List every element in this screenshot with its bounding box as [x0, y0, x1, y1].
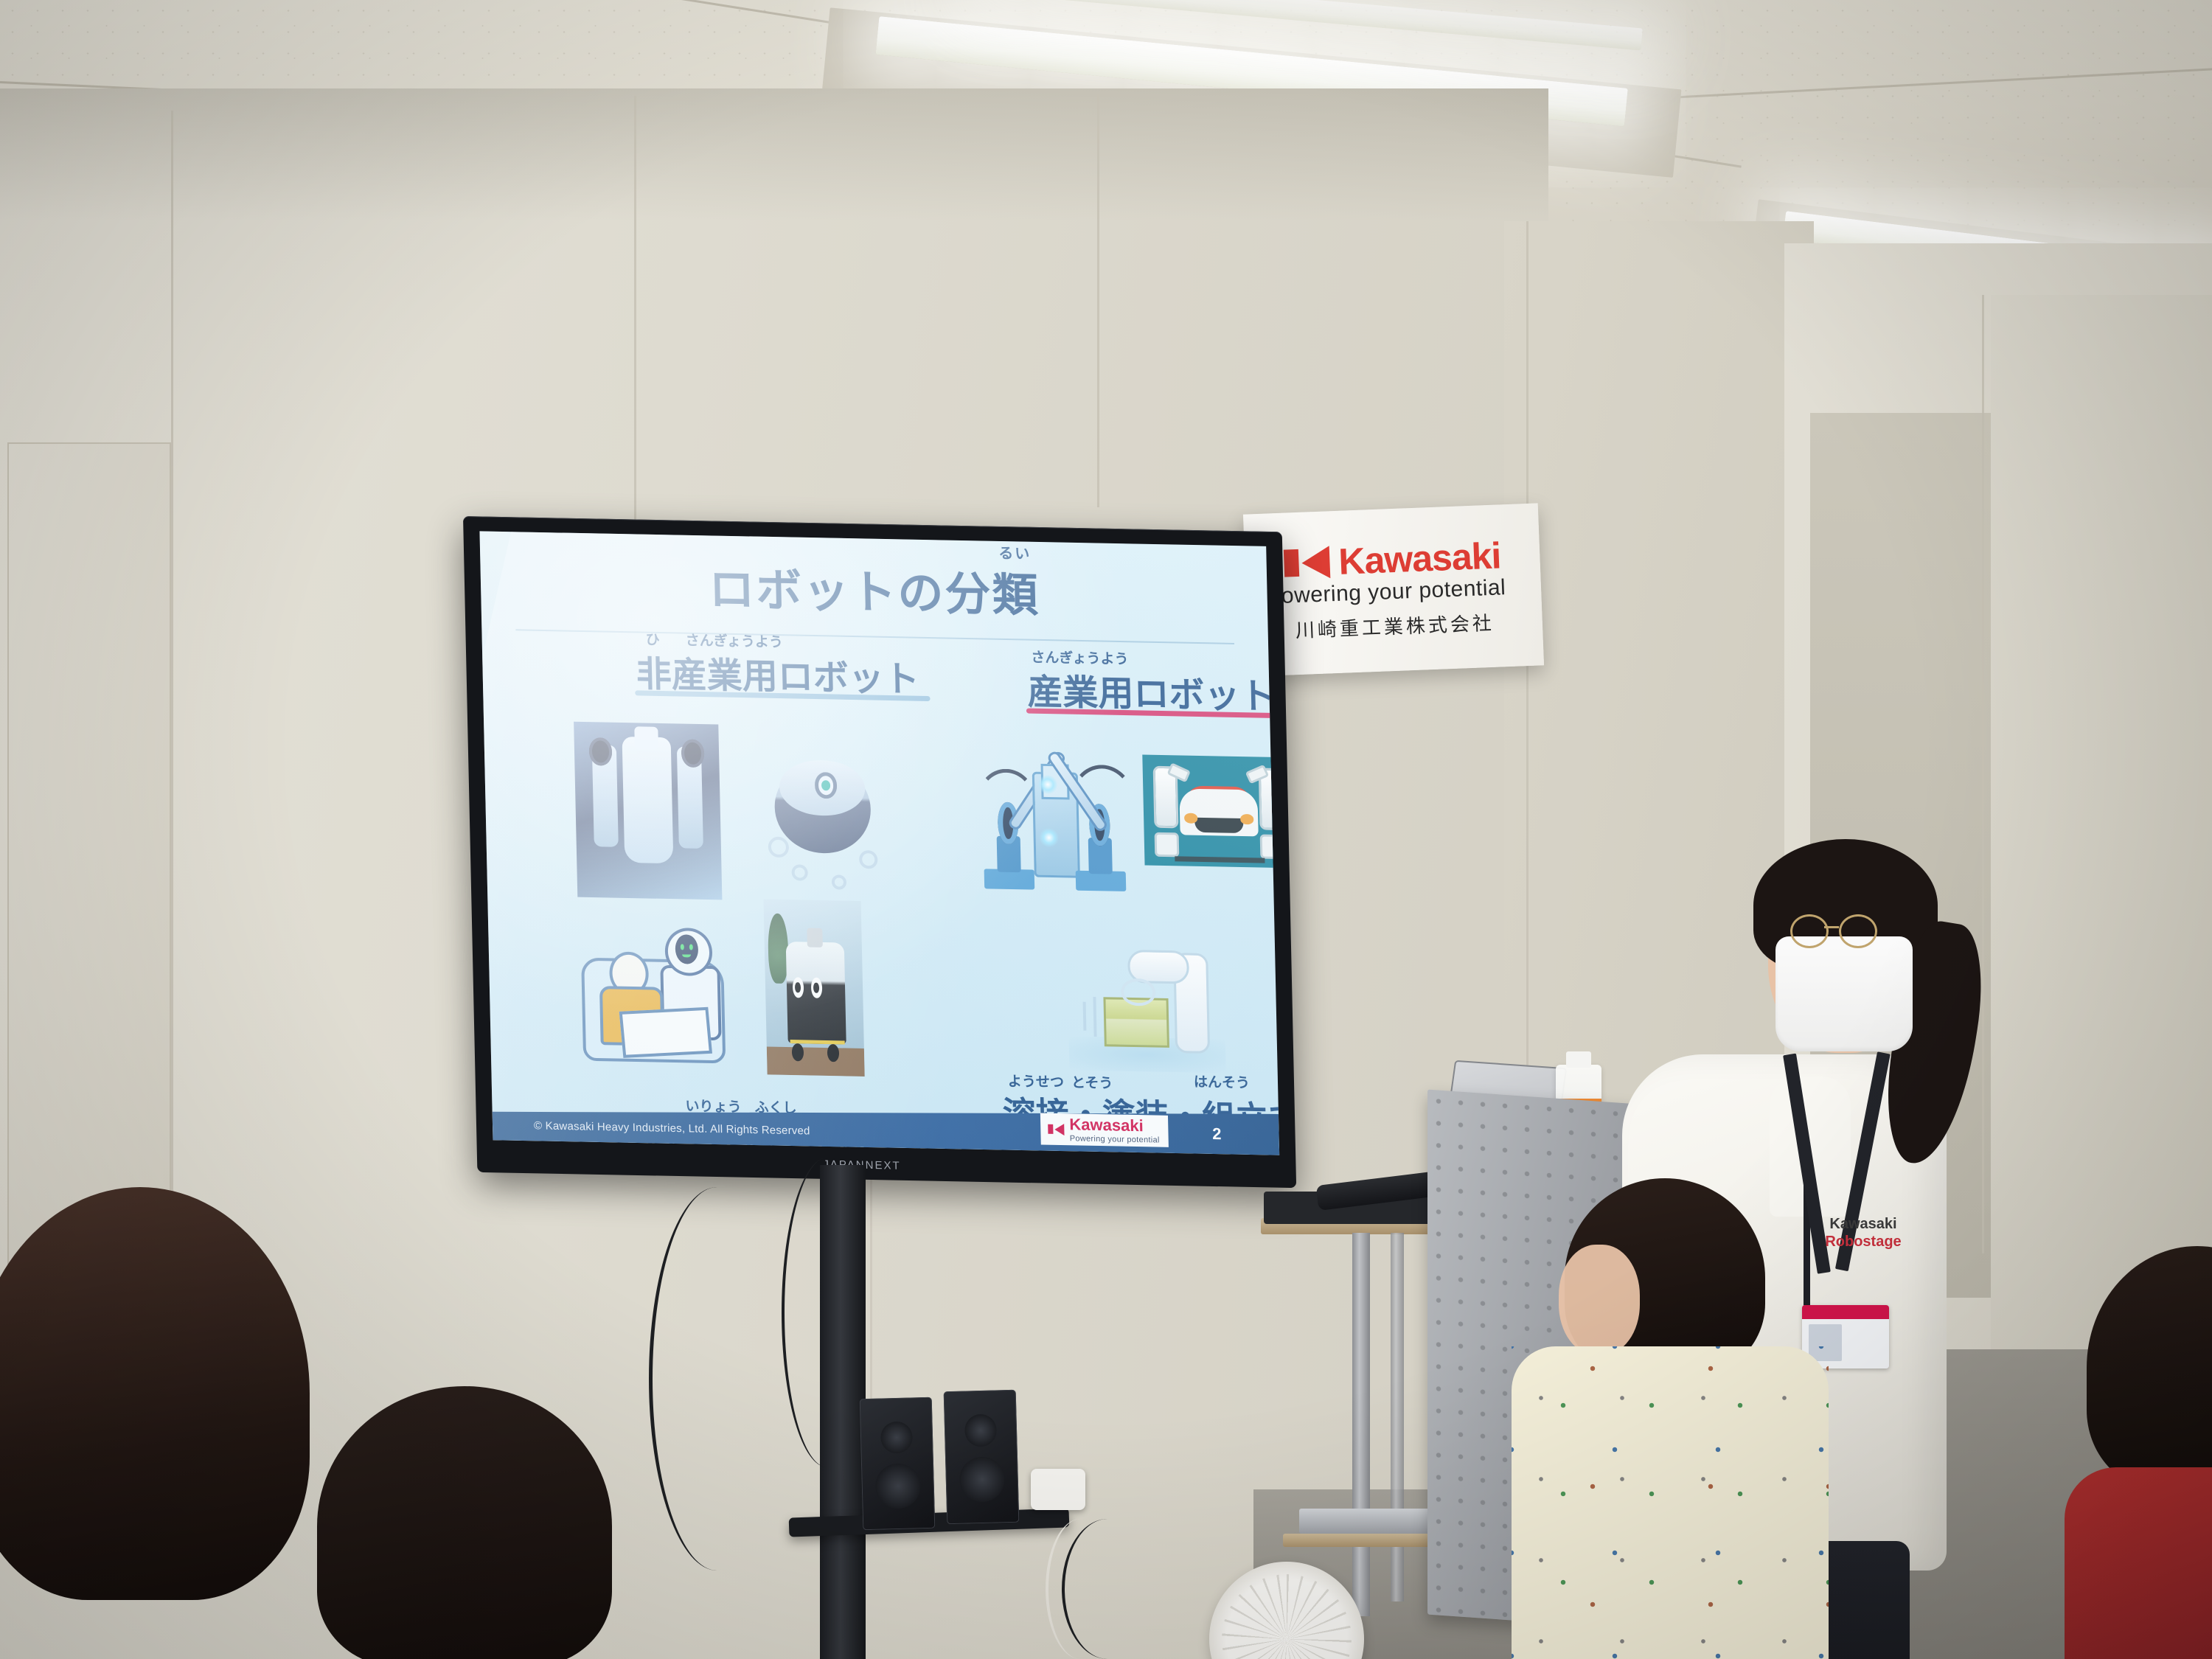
audience-member-left-2: [317, 1386, 627, 1659]
audience-member-right: [2087, 1246, 2212, 1659]
tv-screen: ロボットの分るい類 ひ さんぎょうよう 非産業用ロボット さんぎょうよう 産業用…: [479, 531, 1279, 1155]
child-sweater: [1512, 1346, 1829, 1659]
face-mask: [1775, 936, 1913, 1051]
audience-hair: [0, 1187, 310, 1600]
audience-hair: [2087, 1246, 2212, 1489]
delivery-robot-photo: [763, 899, 864, 1076]
care-robot-illustration: [574, 911, 751, 1070]
material-handling-robot-illustration: [1057, 940, 1237, 1077]
presentation-room-photo: Kawasaki owering your potential 川崎重工業株式会…: [0, 0, 2212, 1659]
slide-title-divider: [515, 629, 1234, 644]
speaker-right: [944, 1390, 1020, 1525]
audience-hair: [317, 1386, 612, 1659]
cable: [649, 1187, 785, 1571]
slide-title-furigana: るい: [998, 541, 1032, 563]
right-caption-furigana-3: はんそう: [1194, 1071, 1251, 1092]
car-painting-robots-illustration: [1142, 754, 1279, 868]
wall-panel-seam: [634, 96, 636, 553]
cart-leg: [1352, 1233, 1370, 1616]
kawasaki-wall-sign: Kawasaki owering your potential 川崎重工業株式会…: [1243, 503, 1544, 676]
slide-page-number: 2: [1212, 1124, 1222, 1144]
slide-footer-logo: Kawasaki Powering your potential: [1040, 1113, 1169, 1147]
slide-title-row: ロボットの分るい類: [480, 547, 1268, 628]
humanoid-robot-photo: [574, 722, 722, 900]
slide-footer-brand: Kawasaki: [1069, 1115, 1144, 1135]
slide-content: ロボットの分るい類 ひ さんぎょうよう 非産業用ロボット さんぎょうよう 産業用…: [479, 531, 1279, 1155]
wall-panel-seam: [1097, 94, 1099, 507]
audience-red-top: [2065, 1467, 2212, 1659]
slide-footer-tagline: Powering your potential: [1070, 1135, 1160, 1144]
audience-child-center: [1519, 1178, 1843, 1659]
robot-vacuum-illustration: [759, 734, 888, 891]
eyeglasses: [1790, 914, 1923, 948]
sign-company-name-jp: 川崎重工業株式会社: [1295, 608, 1495, 642]
wall-top-shadow: [0, 88, 1548, 221]
fan-grill: [1222, 1574, 1352, 1659]
sign-brand-name: Kawasaki: [1338, 537, 1502, 580]
kawasaki-flying-K-icon: [1048, 1124, 1064, 1135]
kawasaki-flying-K-icon: [1284, 546, 1331, 580]
power-adapter: [1031, 1469, 1085, 1510]
wall-panel-seam: [171, 111, 173, 1364]
audience-member-left-1: [0, 1187, 324, 1659]
cable: [782, 1158, 873, 1467]
cable: [1062, 1519, 1153, 1659]
sign-logo-row: Kawasaki: [1284, 537, 1502, 582]
welding-robots-illustration: [978, 748, 1129, 891]
sweater-character-print: [1512, 1346, 1829, 1659]
slide-title-kanji: 類: [992, 570, 1040, 622]
child-face: [1559, 1245, 1640, 1355]
presentation-display[interactable]: JAPANNEXT ロボットの分るい類 ひ さんぎょうよう 非産業用ロボット さ…: [463, 516, 1296, 1188]
speaker-left: [860, 1397, 936, 1531]
